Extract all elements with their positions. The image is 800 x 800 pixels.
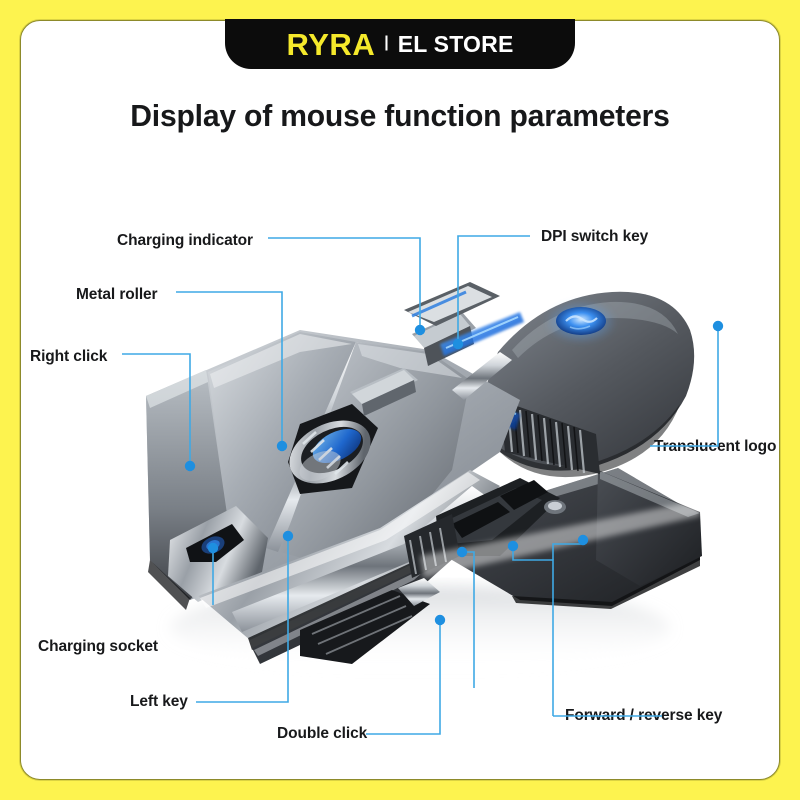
mouse-illustration <box>0 0 800 800</box>
brand-separator: | <box>384 35 388 51</box>
brand-banner: RYRA | EL STORE <box>225 19 575 69</box>
brand-name: RYRA <box>287 29 376 60</box>
store-name: EL STORE <box>398 33 514 56</box>
infographic-page: RYRA | EL STORE Display of mouse functio… <box>0 0 800 800</box>
